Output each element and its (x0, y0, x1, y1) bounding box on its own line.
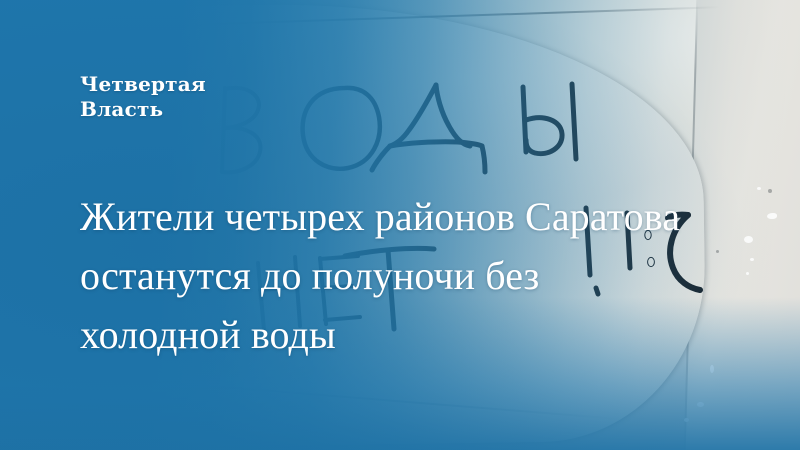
site-logo[interactable]: Четвертая Власть (80, 72, 206, 122)
headline-title: Жители четырех районов Саратова останутс… (80, 187, 700, 364)
logo-line-2: Власть (80, 97, 206, 122)
logo-line-1: Четвертая (80, 72, 206, 97)
news-card: Четвертая Власть Жители четырех районов … (0, 0, 800, 450)
